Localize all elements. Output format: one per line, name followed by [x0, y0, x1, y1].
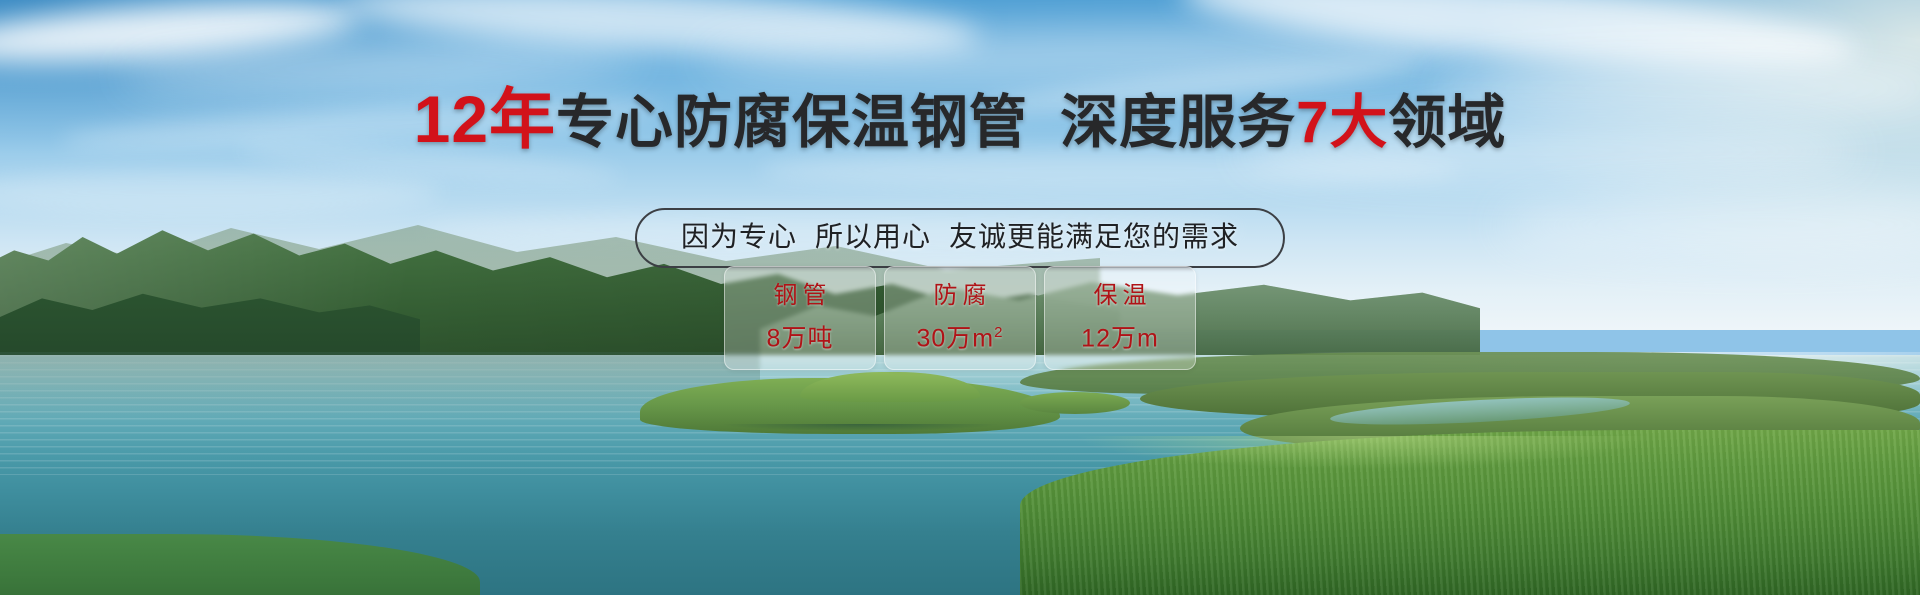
- headline-service-dark: 深度服务: [1060, 90, 1296, 155]
- banner-subtitle-pill: 因为专心所以用心友诚更能满足您的需求: [635, 208, 1285, 268]
- subtitle-part-1: 因为专心: [681, 221, 797, 252]
- stat-card-value-text: 30万m: [917, 325, 995, 353]
- grass-island-small: [1020, 392, 1130, 414]
- hero-banner: 12年专心防腐保温钢管深度服务7大领域 因为专心所以用心友诚更能满足您的需求 钢…: [0, 0, 1920, 595]
- headline-main-dark: 专心防腐保温钢管: [556, 90, 1028, 155]
- stat-card-value: 30万m2: [917, 319, 1004, 352]
- headline-years-red: 12年: [414, 82, 556, 156]
- stat-card-anticorrosion: 防腐 30万m2: [884, 266, 1036, 370]
- stat-card-value-sup: 2: [994, 324, 1003, 341]
- subtitle-part-2: 所以用心: [815, 221, 931, 252]
- headline-fields-dark: 领域: [1388, 90, 1506, 155]
- stat-card-group: 钢管 8万吨 防腐 30万m2 保温 12万m: [724, 266, 1196, 370]
- foreground-grass-highlight: [1060, 436, 1820, 496]
- stat-card-value: 8万吨: [767, 319, 834, 352]
- stat-card-title: 防腐: [929, 283, 992, 309]
- stat-card-title: 保温: [1089, 283, 1152, 309]
- stat-card-value-text: 12万m: [1081, 325, 1159, 353]
- banner-headline: 12年专心防腐保温钢管深度服务7大领域: [0, 88, 1920, 154]
- subtitle-part-3: 友诚更能满足您的需求: [949, 221, 1239, 252]
- headline-seven-red: 7大: [1296, 90, 1388, 155]
- grass-island-shadow: [660, 424, 1060, 442]
- stat-card-insulation: 保温 12万m: [1044, 266, 1196, 370]
- stat-card-value: 12万m: [1081, 319, 1159, 352]
- stat-card-steel-pipe: 钢管 8万吨: [724, 266, 876, 370]
- stat-card-value-text: 8万吨: [767, 325, 834, 353]
- stat-card-title: 钢管: [769, 283, 832, 309]
